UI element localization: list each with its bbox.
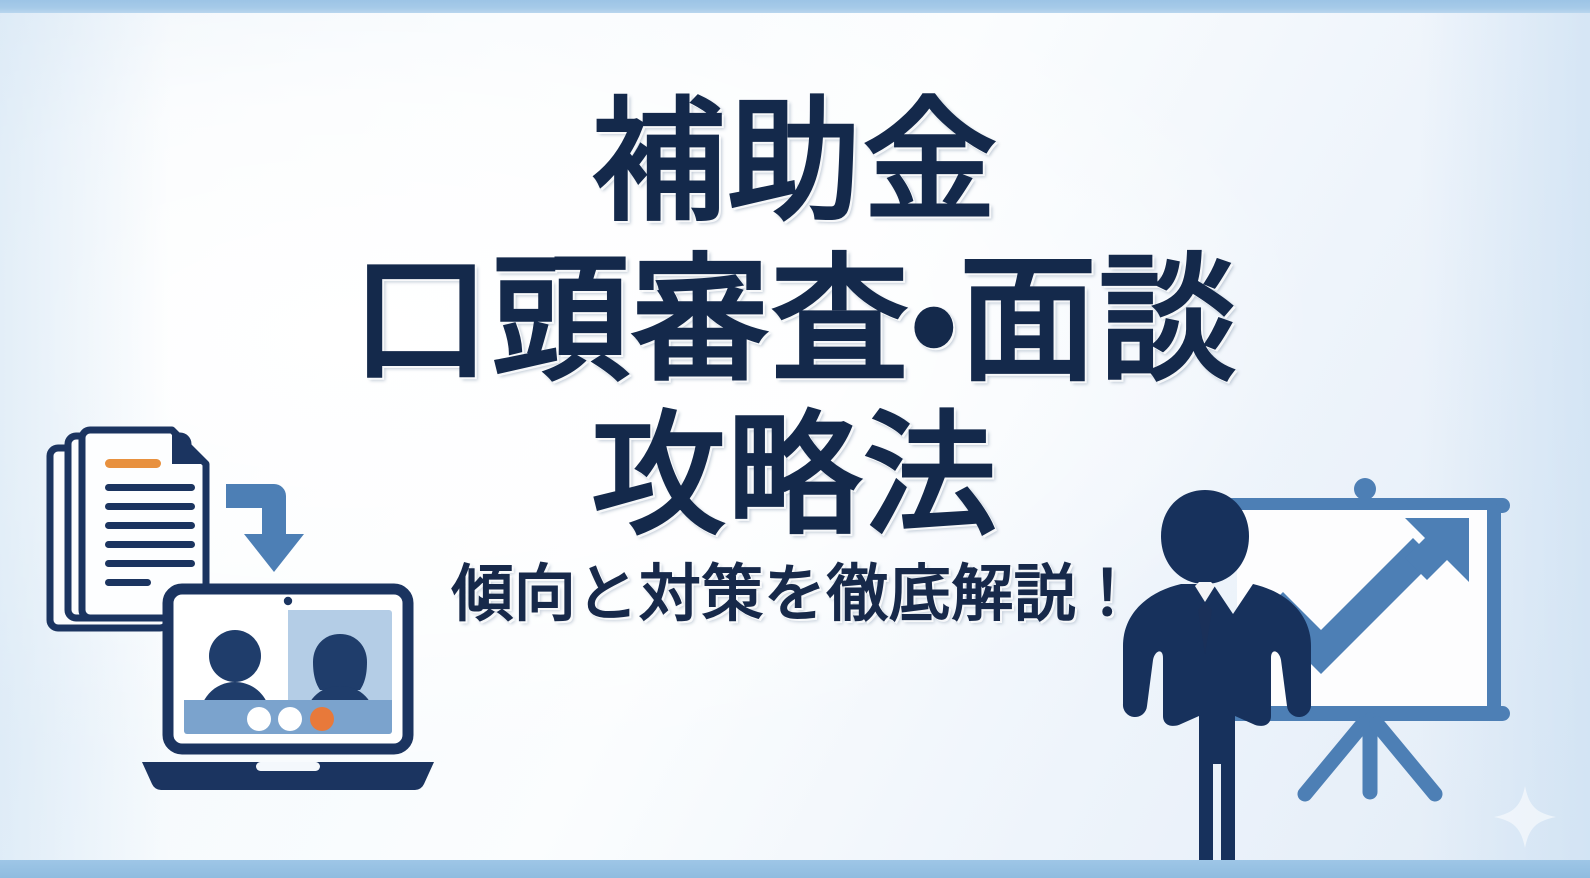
top-accent-band (0, 0, 1590, 13)
title-line-2: 口頭審査・面談 (0, 252, 1590, 390)
thumbnail-canvas: 補助金 口頭審査・面談 攻略法 傾向と対策を徹底解説！ (0, 0, 1590, 878)
laptop-video-call (142, 589, 434, 790)
board-legs (1305, 720, 1435, 794)
call-button-2 (278, 707, 302, 731)
document-accent-line (105, 459, 161, 468)
illustration-presenter-chart (1115, 462, 1555, 878)
board-knob (1354, 478, 1376, 500)
elbow-arrow-down-icon (226, 484, 304, 572)
webcam-dot (284, 597, 292, 605)
title-line-1: 補助金 (0, 96, 1590, 230)
bottom-accent-band (0, 860, 1590, 878)
call-button-1 (247, 707, 271, 731)
illustration-documents-to-meeting (38, 404, 448, 804)
call-button-end (310, 707, 334, 731)
